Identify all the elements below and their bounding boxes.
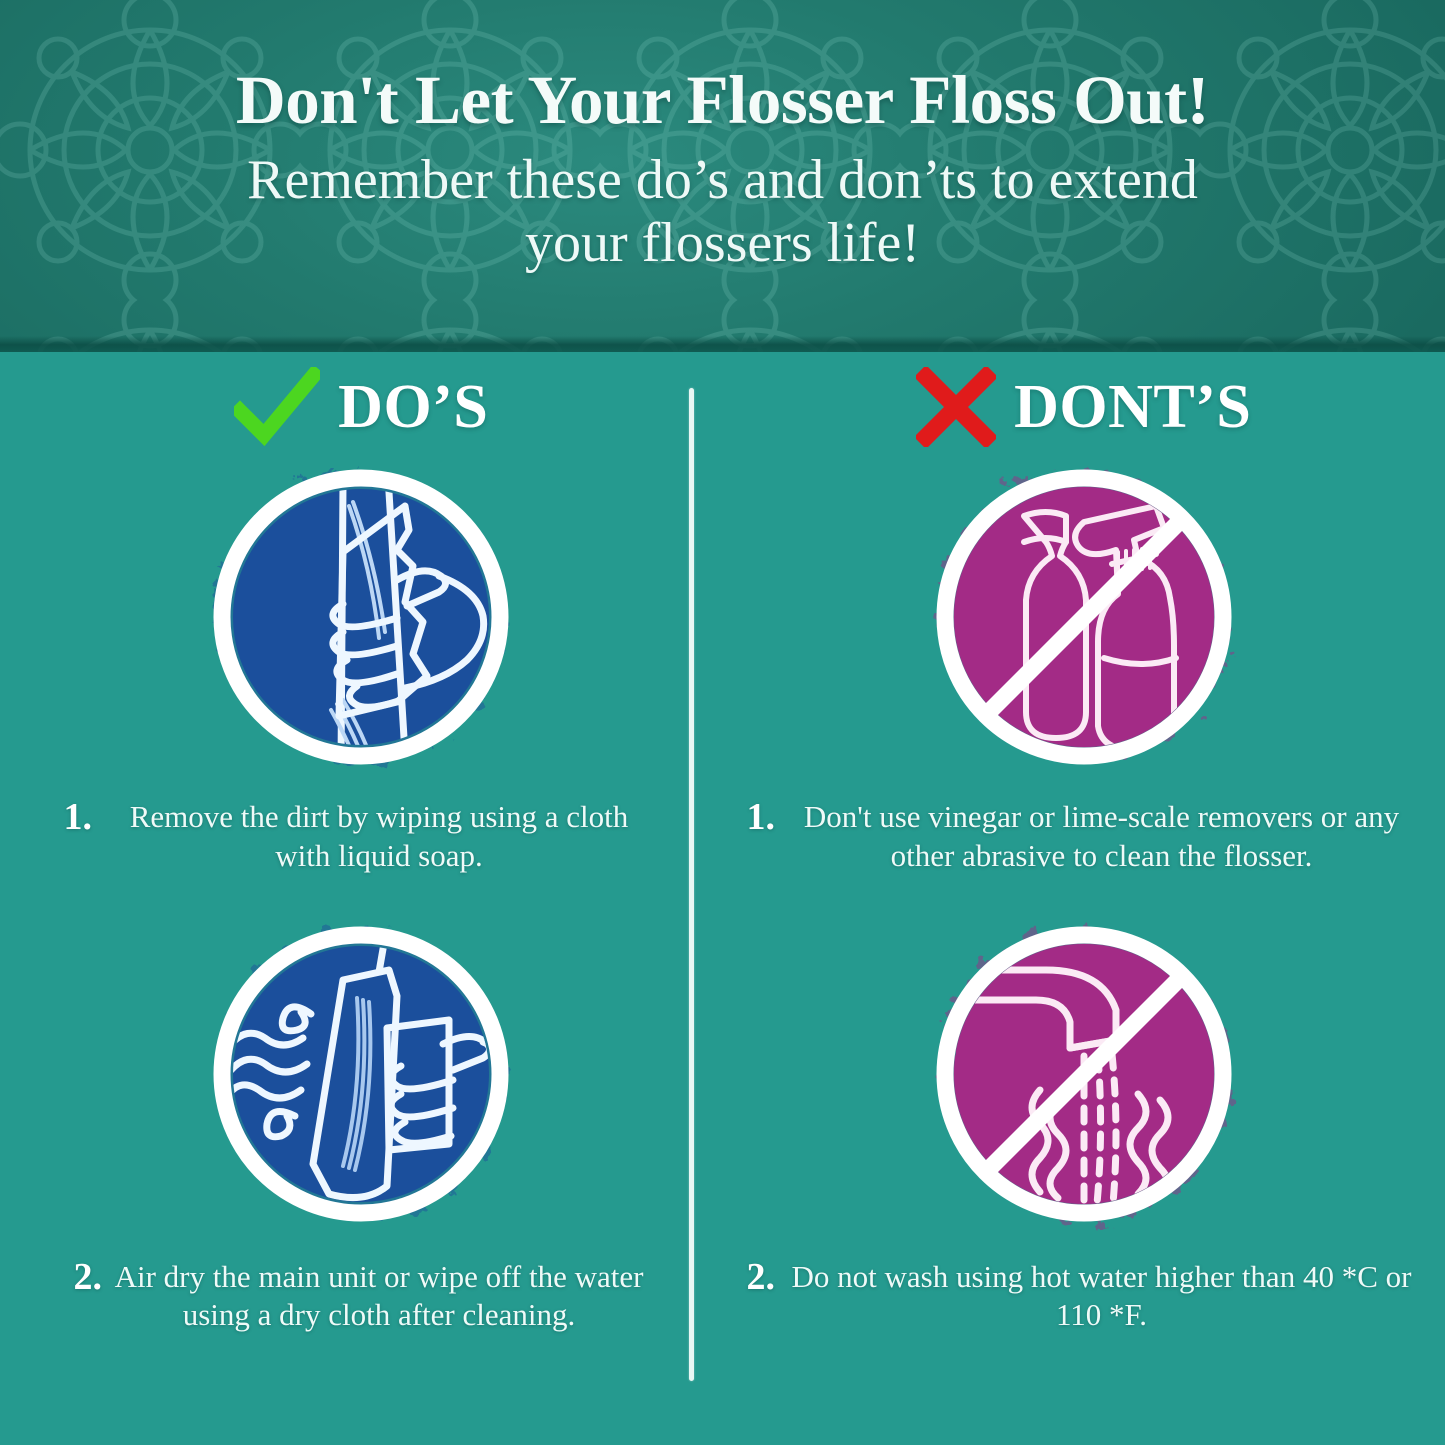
donts-item-2-caption: 2. Do not wash using hot water higher th…: [747, 1258, 1422, 1336]
dos-item-2-caption: 2. Air dry the main unit or wipe off the…: [74, 1258, 650, 1336]
header-banner: Don't Let Your Flosser Floss Out! Rememb…: [0, 0, 1445, 352]
donts-item-1: 1. Don't use vinegar or lime-scale remov…: [747, 454, 1422, 876]
hand-wiping-flosser-with-cloth-icon: [191, 454, 531, 784]
donts-heading-row: DONT’S: [747, 352, 1422, 448]
dos-column: DO’S: [0, 352, 723, 1445]
donts-item-2-text: Do not wash using hot water higher than …: [782, 1258, 1421, 1336]
no-hot-water-faucet-icon: [912, 914, 1256, 1244]
dos-heading-row: DO’S: [24, 352, 699, 448]
red-cross-icon: [916, 367, 996, 447]
donts-item-1-number: 1.: [747, 798, 776, 838]
no-vinegar-spray-bottle-icon: [912, 454, 1256, 784]
content-area: DO’S: [0, 352, 1445, 1445]
dos-item-1-number: 1.: [64, 798, 93, 838]
donts-item-2: 2. Do not wash using hot water higher th…: [747, 914, 1422, 1336]
dos-item-1: 1. Remove the dirt by wiping using a clo…: [24, 454, 699, 876]
page-title: Don't Let Your Flosser Floss Out!: [236, 65, 1209, 135]
donts-item-2-number: 2.: [747, 1258, 776, 1298]
donts-heading-label: DONT’S: [1014, 372, 1251, 443]
dos-item-1-text: Remove the dirt by wiping using a cloth …: [99, 798, 659, 876]
green-check-icon: [234, 367, 320, 447]
page-subtitle: Remember these do’s and don’ts to extend…: [193, 149, 1253, 274]
dos-heading-label: DO’S: [338, 372, 488, 443]
air-dry-flosser-with-cloth-icon: [191, 914, 531, 1244]
donts-item-1-text: Don't use vinegar or lime-scale removers…: [782, 798, 1421, 876]
donts-item-1-caption: 1. Don't use vinegar or lime-scale remov…: [747, 798, 1422, 876]
dos-item-2-number: 2.: [74, 1258, 103, 1298]
dos-item-1-caption: 1. Remove the dirt by wiping using a clo…: [64, 798, 660, 876]
infographic-poster: Don't Let Your Flosser Floss Out! Rememb…: [0, 0, 1445, 1445]
donts-column: DONT’S: [723, 352, 1445, 1445]
dos-item-2-text: Air dry the main unit or wipe off the wa…: [109, 1258, 649, 1336]
dos-item-2: 2. Air dry the main unit or wipe off the…: [24, 914, 699, 1336]
